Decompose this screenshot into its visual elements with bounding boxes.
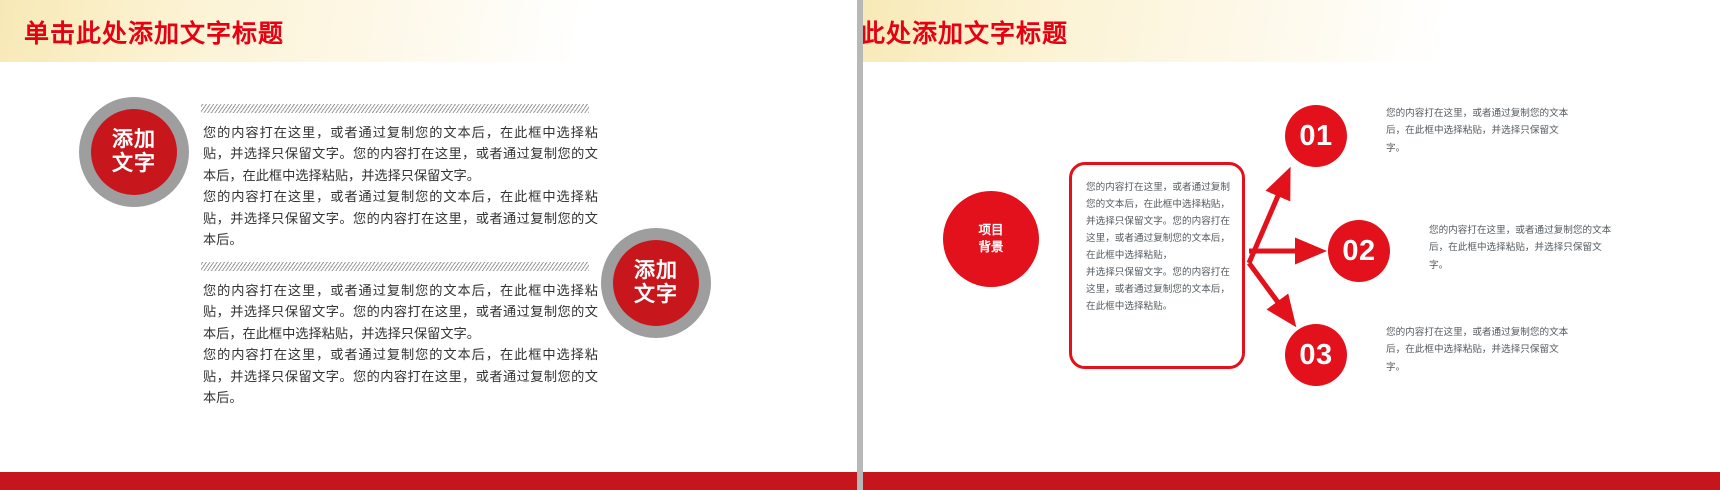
slide-left-title: 单击此处添加文字标题 <box>24 14 284 50</box>
number-circle-03-label: 03 <box>1299 339 1332 372</box>
hatched-divider-2 <box>201 262 589 271</box>
badge-2-line2: 文字 <box>634 283 678 307</box>
left-paragraph-2[interactable]: 您的内容打在这里，或者通过复制您的文本后，在此框中选择粘贴，并选择只保留文字。您… <box>203 280 598 408</box>
badge-inner-2: 添加 文字 <box>613 240 699 326</box>
presentation-stage: 单击此处添加文字标题 添加 文字 添加 文字 您的内容打在这里，或者通过复制您的… <box>0 0 1720 490</box>
callout-line-1: 您的内容打在这里，或者通过复制您的文本后，在此框中选择粘贴，并选择只保留文字。您… <box>1086 179 1230 264</box>
badge-add-text-2[interactable]: 添加 文字 <box>601 228 711 338</box>
hatched-divider-1 <box>201 104 589 113</box>
item-text-03[interactable]: 您的内容打在这里，或者通过复制您的文本后，在此框中选择粘贴，并选择只保留文字。 <box>1386 324 1571 376</box>
badge-1-line1: 添加 <box>112 128 156 152</box>
left-paragraph-1-line-1: 您的内容打在这里，或者通过复制您的文本后，在此框中选择粘贴，并选择只保留文字。您… <box>203 122 598 186</box>
number-circle-02[interactable]: 02 <box>1328 220 1390 282</box>
number-circle-01[interactable]: 01 <box>1285 105 1347 167</box>
badge-inner-1: 添加 文字 <box>91 109 177 195</box>
hub-circle-project-background[interactable]: 项目 背景 <box>943 191 1039 287</box>
badge-2-line1: 添加 <box>634 259 678 283</box>
item-text-02-body: 您的内容打在这里，或者通过复制您的文本后，在此框中选择粘贴，并选择只保留文字。 <box>1429 222 1614 274</box>
hub-line1: 项目 <box>978 222 1003 239</box>
badge-1-line2: 文字 <box>112 152 156 176</box>
callout-line-2: 并选择只保留文字。您的内容打在这里，或者通过复制您的文本后，在此框中选择粘贴。 <box>1086 264 1230 315</box>
slide-right: 单击此处添加文字标题 项目 背景 您的内容打在这里，或者通过复制您的文本后，在此… <box>863 0 1720 490</box>
slide-left: 单击此处添加文字标题 添加 文字 添加 文字 您的内容打在这里，或者通过复制您的… <box>0 0 857 490</box>
badge-add-text-1[interactable]: 添加 文字 <box>79 97 189 207</box>
left-paragraph-1[interactable]: 您的内容打在这里，或者通过复制您的文本后，在此框中选择粘贴，并选择只保留文字。您… <box>203 122 598 250</box>
item-text-02[interactable]: 您的内容打在这里，或者通过复制您的文本后，在此框中选择粘贴，并选择只保留文字。 <box>1429 222 1614 274</box>
slide-right-title: 单击此处添加文字标题 <box>863 14 1068 50</box>
item-text-01[interactable]: 您的内容打在这里，或者通过复制您的文本后，在此框中选择粘贴，并选择只保留文字。 <box>1386 105 1571 157</box>
item-text-01-body: 您的内容打在这里，或者通过复制您的文本后，在此框中选择粘贴，并选择只保留文字。 <box>1386 105 1571 157</box>
slide-left-footer-bar <box>0 472 857 490</box>
slide-right-footer-bar <box>863 472 1720 490</box>
arrow-to-01 <box>1249 175 1287 263</box>
number-circle-02-label: 02 <box>1342 235 1375 268</box>
arrow-to-03 <box>1249 263 1291 320</box>
left-paragraph-1-line-2: 您的内容打在这里，或者通过复制您的文本后，在此框中选择粘贴，并选择只保留文字。您… <box>203 186 598 250</box>
number-circle-03[interactable]: 03 <box>1285 324 1347 386</box>
number-circle-01-label: 01 <box>1299 120 1332 153</box>
left-paragraph-2-line-2: 您的内容打在这里，或者通过复制您的文本后，在此框中选择粘贴，并选择只保留文字。您… <box>203 344 598 408</box>
callout-text: 您的内容打在这里，或者通过复制您的文本后，在此框中选择粘贴，并选择只保留文字。您… <box>1086 179 1230 316</box>
item-text-03-body: 您的内容打在这里，或者通过复制您的文本后，在此框中选择粘贴，并选择只保留文字。 <box>1386 324 1571 376</box>
hub-line2: 背景 <box>978 239 1003 256</box>
callout-box[interactable]: 您的内容打在这里，或者通过复制您的文本后，在此框中选择粘贴，并选择只保留文字。您… <box>1069 162 1245 369</box>
left-paragraph-2-line-1: 您的内容打在这里，或者通过复制您的文本后，在此框中选择粘贴，并选择只保留文字。您… <box>203 280 598 344</box>
